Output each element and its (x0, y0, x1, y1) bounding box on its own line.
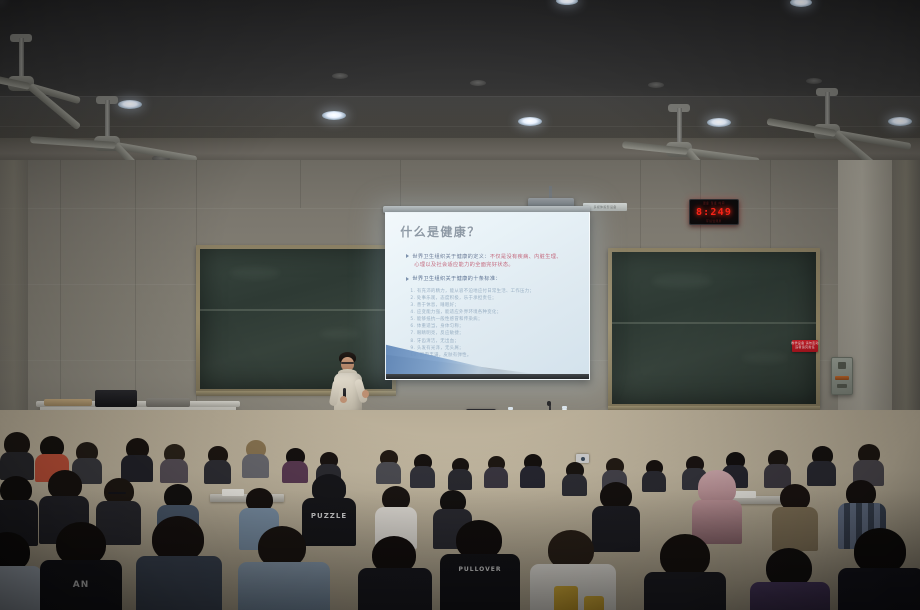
podium-equipment-grey (146, 398, 190, 407)
slide-list-item: 6. 体重适当，身体匀称； (410, 323, 576, 330)
slide-title: 什么是健康？ (400, 223, 480, 240)
ceiling-downlight (790, 0, 812, 7)
denim-jacket (238, 562, 330, 610)
ceiling-fan (20, 38, 22, 88)
ceiling-fan (106, 100, 108, 146)
slide-list-item: 9. 头发有光泽，无头屑； (410, 345, 576, 352)
ceiling-downlight-off (648, 82, 664, 88)
ceiling-downlight (118, 100, 142, 109)
warning-sign-line2: 违者追究责任 (795, 346, 815, 350)
projector-mount-arm (549, 186, 552, 198)
slide-list-item: 4. 应变能力强，能适应外界环境各种变化； (410, 309, 576, 316)
slide-bullet-1: 世界卫生组织关于健康的定义：不仅是没有疾病、内脏生理、 心理以及社会适应能力的全… (406, 253, 577, 269)
ceiling-downlight (707, 118, 731, 127)
presenter-hand-holding-mic (340, 396, 347, 403)
slide-numbered-list: 1. 有充沛的精力，能从容不迫地应付日常生活、工作压力； 2. 处事乐观，态度积… (410, 288, 576, 359)
ceiling-downlight-off (470, 80, 486, 86)
electrical-panel[interactable] (831, 357, 853, 395)
ceiling-fan (826, 92, 828, 138)
purple-jacket (750, 582, 830, 610)
presenter-gesturing-hand (362, 390, 369, 398)
ceiling-downlight (556, 0, 578, 5)
ceiling (0, 0, 920, 168)
ceiling-downlight (888, 117, 912, 126)
ceiling-downlight (518, 117, 542, 126)
jacket-text-partial: AN (40, 580, 122, 590)
wall-pillar (892, 160, 920, 450)
ceiling-downlight-off (806, 78, 822, 84)
led-top-label: 温度 湿度 时间 (690, 201, 738, 205)
led-sub-label: 环境监测屏 (690, 219, 738, 223)
ceiling-downlight (322, 111, 346, 120)
bullet-triangle-icon (406, 277, 409, 281)
pink-hood (698, 470, 736, 504)
bullet-triangle-icon (406, 254, 409, 258)
slide-list-item: 7. 眼睛明亮，反应敏捷； (410, 330, 576, 337)
led-clock-display: 温度 湿度 时间 8:249 环境监测屏 (689, 199, 739, 225)
black-pullover: PULLOVER (440, 554, 520, 610)
slide-bullet-2: 世界卫生组织关于健康的十条标准： (406, 275, 577, 282)
audience-front-row: AN PULLOVER (0, 512, 920, 610)
podium-equipment-board (44, 399, 92, 406)
ceiling-downlight-off (332, 73, 348, 79)
screen-bottom-bar (386, 374, 589, 379)
table-microphone-head (547, 401, 551, 406)
blackboard-surface-right (612, 252, 816, 404)
wall-pillar (838, 160, 892, 450)
jacket-text: PULLOVER (440, 566, 520, 573)
slide-list-item: 8. 牙齿清洁，无出血； (410, 338, 576, 345)
slide-list-item: 3. 善于休息，睡眠好； (410, 302, 576, 309)
warning-sign: 教学设备 请勿乱动 违者追究责任 (792, 340, 818, 352)
white-gold-jacket (530, 564, 616, 610)
slide-list-item: 2. 处事乐观，态度积极，乐于承担责任； (410, 295, 576, 302)
projection-screen: 什么是健康？ 世界卫生组织关于健康的定义：不仅是没有疾病、内脏生理、 心理以及社… (385, 212, 590, 380)
dark-jacket: AN (40, 560, 122, 610)
gold-applique (584, 596, 604, 610)
lecture-hall-photo: 多媒体投影设备 什么是健康？ 世界卫生组织关于健康的定义：不仅是没有疾病、内脏生… (0, 0, 920, 610)
slide-list-item: 1. 有充沛的精力，能从容不迫地应付日常生活、工作压力； (410, 288, 576, 295)
presenter-glasses (341, 362, 354, 364)
ceiling-fan (678, 108, 680, 152)
wall-pillar (0, 160, 28, 450)
blackboard-right (608, 248, 820, 408)
slide-list-item: 5. 能够抵抗一般性感冒和传染病； (410, 316, 576, 323)
gold-applique (554, 586, 578, 610)
podium-equipment-dark (95, 390, 137, 407)
led-digits: 8:249 (690, 207, 738, 218)
